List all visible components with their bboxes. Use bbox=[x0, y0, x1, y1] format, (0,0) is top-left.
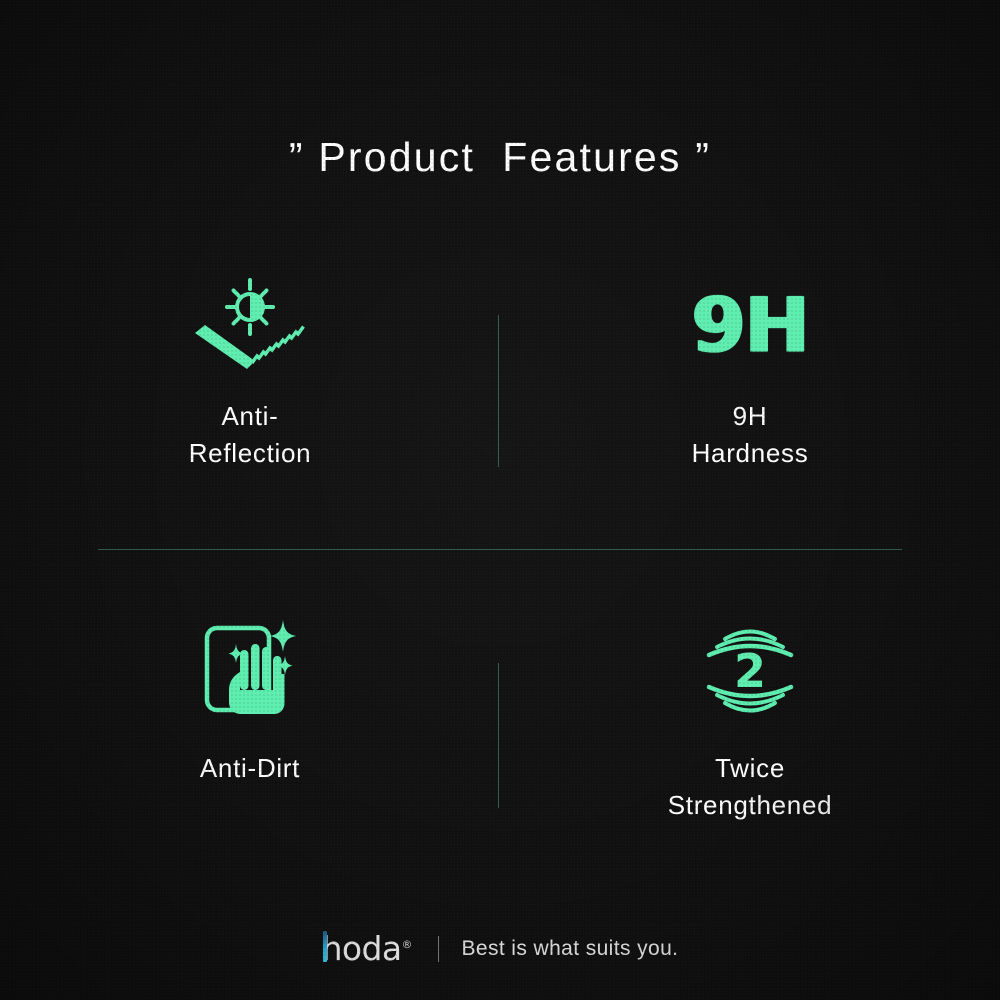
twice-strengthened-icon: 2 bbox=[695, 610, 805, 722]
feature-label: Twice Strengthened bbox=[668, 750, 833, 824]
anti-reflection-icon bbox=[185, 270, 315, 380]
logo-text: hoda bbox=[322, 929, 402, 968]
footer-branding: hoda® Best is what suits you. bbox=[0, 932, 1000, 965]
feature-card-anti-dirt: Anti-Dirt bbox=[0, 610, 500, 840]
product-features-graphic: ” Product Features ” bbox=[0, 0, 1000, 1000]
footer-divider bbox=[438, 936, 439, 962]
horizontal-divider bbox=[98, 549, 902, 550]
feature-label: Anti-Dirt bbox=[200, 750, 300, 787]
twice-strengthened-icon-text: 2 bbox=[734, 644, 766, 698]
footer-tagline: Best is what suits you. bbox=[461, 937, 678, 961]
anti-dirt-icon bbox=[195, 610, 305, 722]
feature-row-bottom: Anti-Dirt 2 bbox=[0, 610, 1000, 840]
feature-row-top: Anti- Reflection 9H 9H Hardness bbox=[0, 270, 1000, 500]
feature-card-twice-strengthened: 2 Twice Strengthened bbox=[500, 610, 1000, 840]
9h-icon: 9H bbox=[696, 270, 804, 380]
vertical-divider-top bbox=[498, 315, 499, 467]
logo-accent-bar bbox=[323, 931, 327, 962]
registered-trademark-icon: ® bbox=[401, 938, 412, 951]
hoda-logo: hoda® bbox=[322, 932, 413, 965]
vertical-divider-bottom bbox=[498, 663, 499, 808]
feature-card-anti-reflection: Anti- Reflection bbox=[0, 270, 500, 500]
feature-label: 9H Hardness bbox=[692, 398, 809, 472]
feature-card-9h-hardness: 9H 9H Hardness bbox=[500, 270, 1000, 500]
feature-label: Anti- Reflection bbox=[189, 398, 312, 472]
9h-icon-text: 9H bbox=[691, 287, 808, 363]
page-title: ” Product Features ” bbox=[0, 134, 1000, 181]
